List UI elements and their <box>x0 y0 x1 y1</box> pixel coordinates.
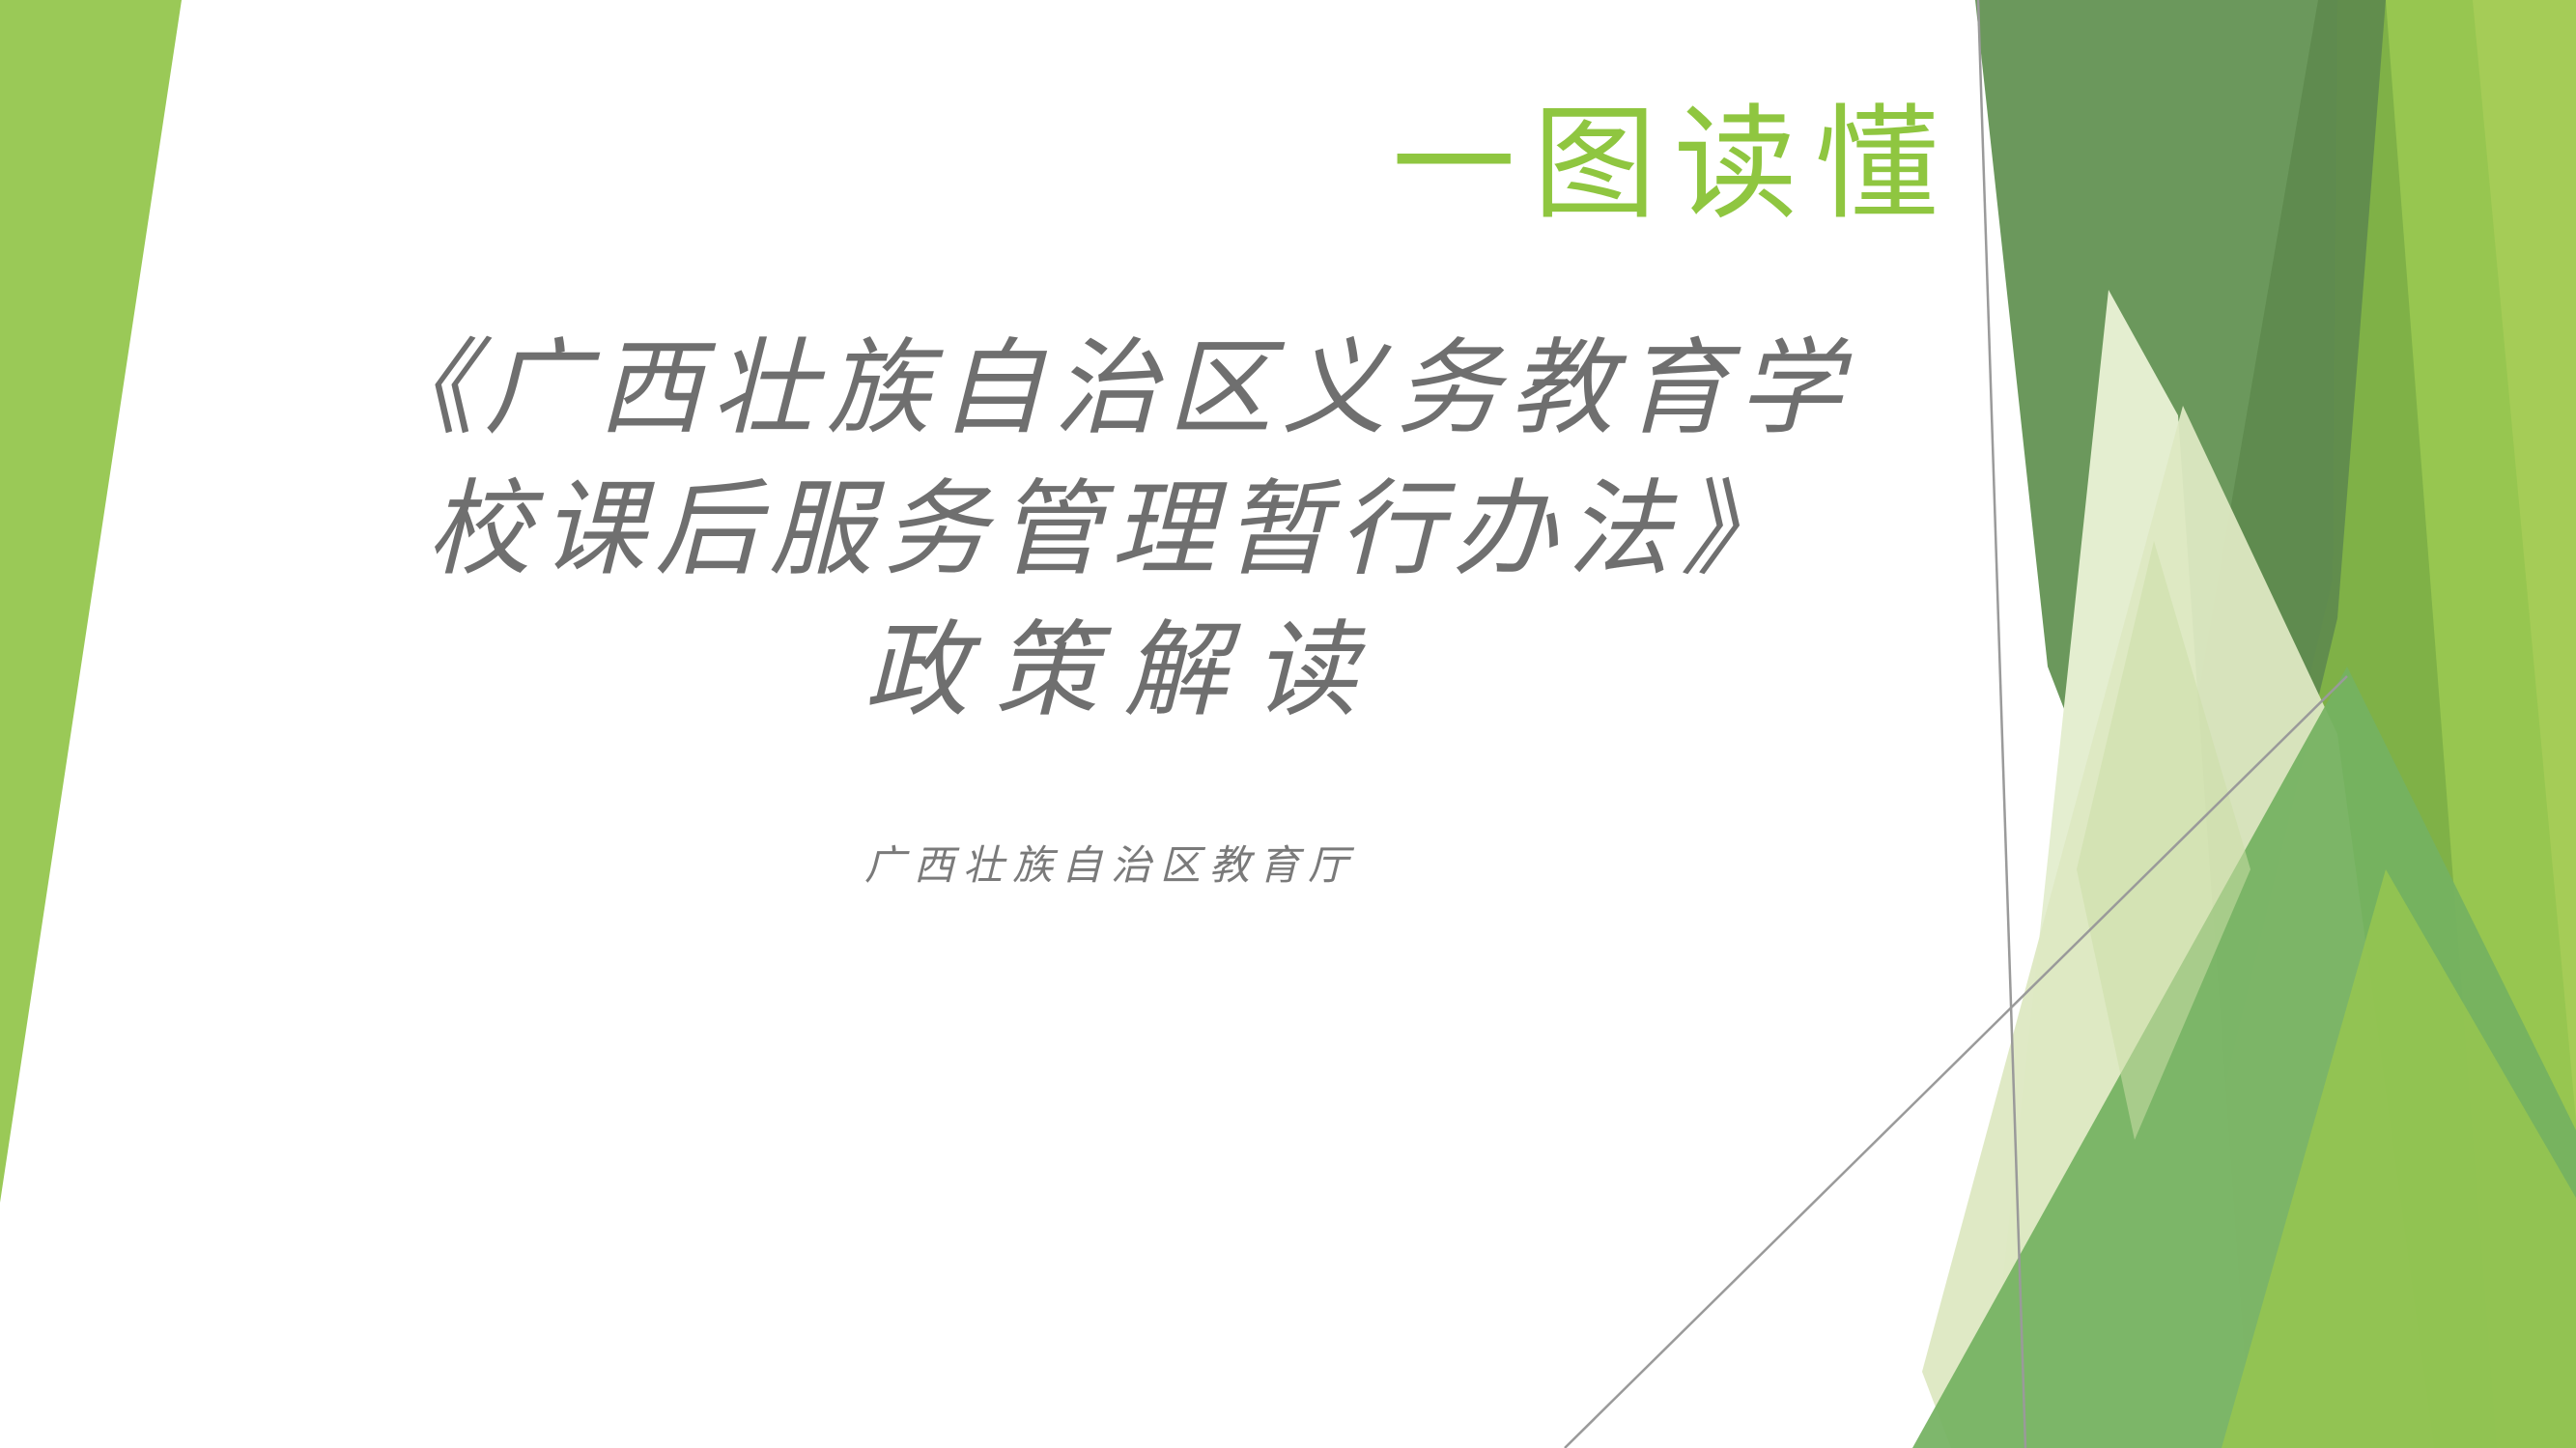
page-title-line-2: 校课后服务管理暂行办法》 <box>290 460 1932 601</box>
page-title-line-3: 政策解读 <box>290 601 1932 742</box>
page-title-line-1: 《广西壮族自治区义务教育学 <box>290 319 1932 460</box>
presentation-slide: 一图读懂 《广西壮族自治区义务教育学 校课后服务管理暂行办法》 政策解读 广西壮… <box>0 0 2576 1448</box>
page-title: 《广西壮族自治区义务教育学 校课后服务管理暂行办法》 政策解读 <box>290 319 1932 741</box>
eyebrow-title: 一图读懂 <box>0 100 1956 230</box>
slide-content: 一图读懂 《广西壮族自治区义务教育学 校课后服务管理暂行办法》 政策解读 广西壮… <box>0 0 2576 1448</box>
author-organisation: 广西壮族自治区教育厅 <box>290 833 1932 892</box>
